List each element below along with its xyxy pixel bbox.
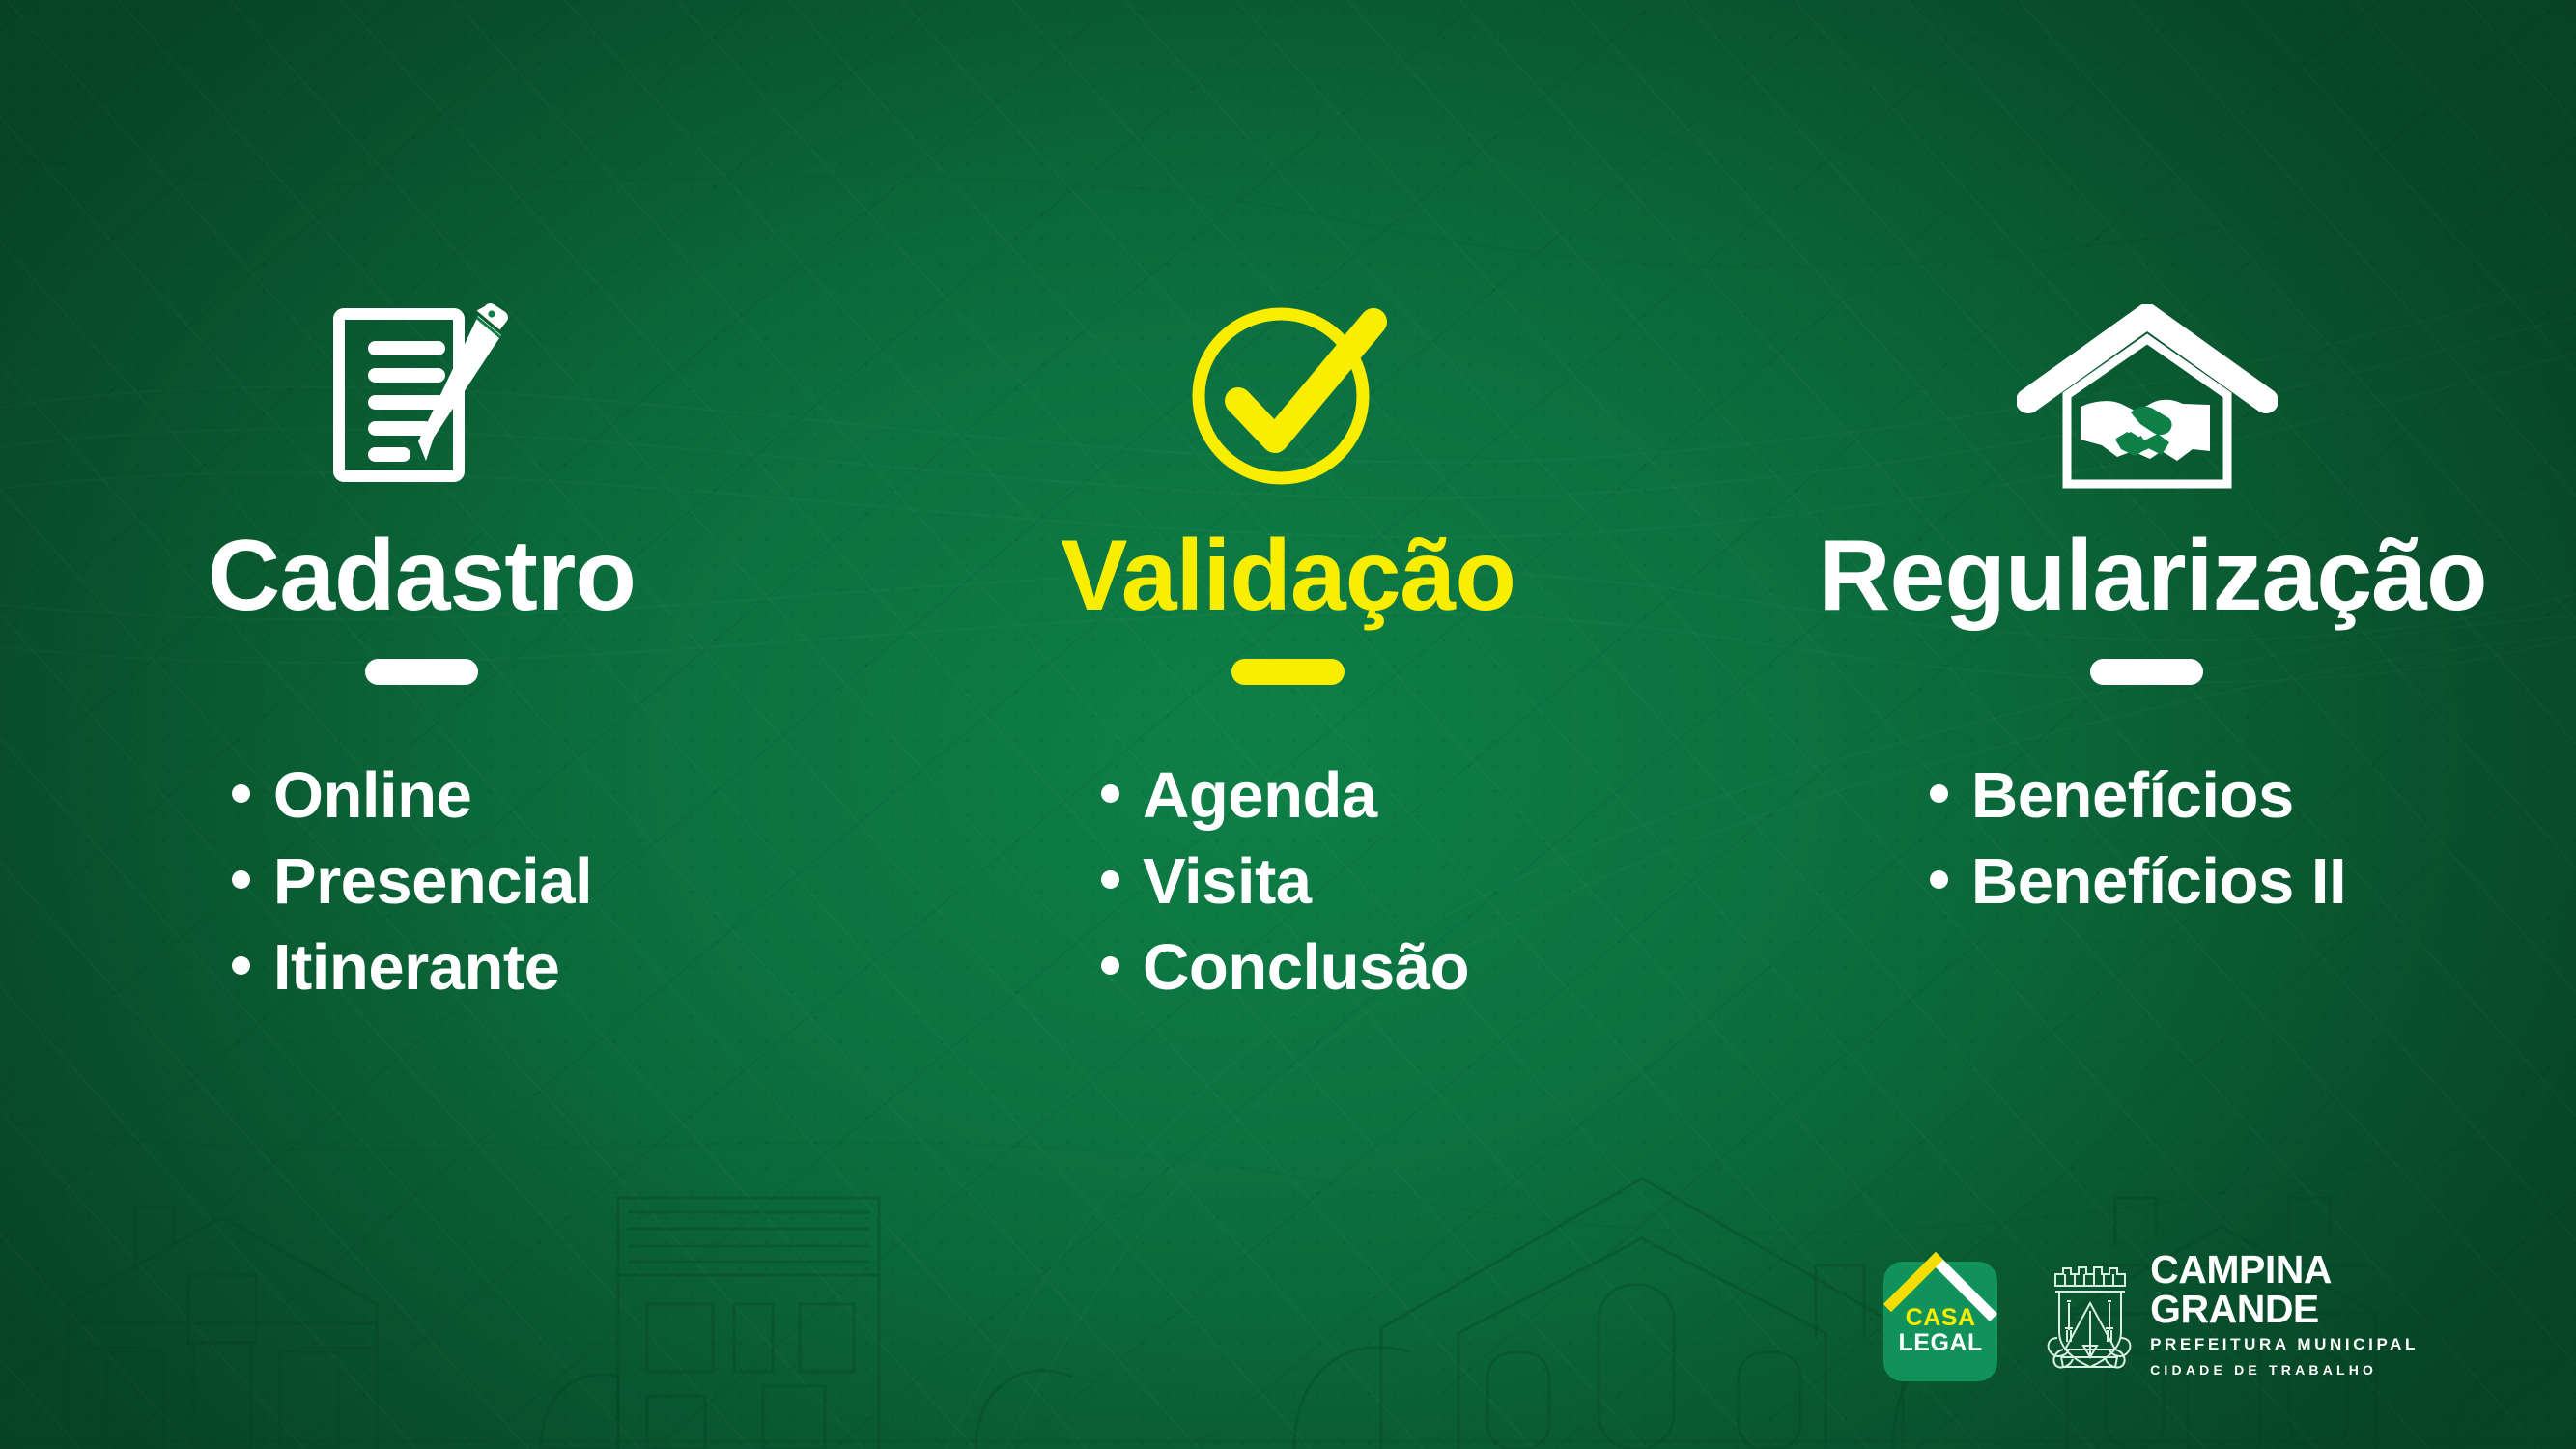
column-title-validacao: Validação: [1061, 526, 1515, 626]
list-item-label: Presencial: [273, 838, 592, 924]
list-item: Online: [232, 753, 592, 838]
column-rule-cadastro: [365, 659, 478, 685]
bullet-dot-icon: [232, 956, 250, 975]
campina-grande-logo: CAMPINA GRANDE PREFEITURA MUNICIPAL CIDA…: [2044, 1250, 2419, 1377]
list-item: Visita: [1101, 838, 1469, 924]
list-item: Agenda: [1101, 753, 1469, 838]
bullet-dot-icon: [1101, 870, 1119, 889]
bullet-dot-icon: [1930, 870, 1948, 889]
list-item: Presencial: [232, 838, 592, 924]
campina-grande-line-3: PREFEITURA MUNICIPAL: [2150, 1335, 2419, 1354]
footer-logos: CASA LEGAL: [1883, 1246, 2419, 1381]
handshake-glyph: [2081, 400, 2210, 461]
cadastro-bullet-list: Online Presencial Itinerante: [232, 753, 592, 1010]
column-title-cadastro: Cadastro: [208, 526, 636, 626]
house-handshake-icon: [2017, 304, 2278, 493]
bullet-dot-icon: [232, 784, 250, 803]
casa-legal-wordmark: CASA LEGAL: [1883, 1306, 1997, 1355]
campina-grande-wordmark: CAMPINA GRANDE PREFEITURA MUNICIPAL CIDA…: [2150, 1250, 2419, 1377]
regularizacao-bullet-list: Benefícios Benefícios II: [1930, 753, 2346, 924]
bullet-dot-icon: [1930, 784, 1948, 803]
casa-legal-line-1: CASA: [1883, 1306, 1997, 1331]
slide-canvas: Cadastro Online Presencial Itinerante: [0, 0, 2576, 1449]
process-columns: Cadastro Online Presencial Itinerante: [0, 232, 2576, 1101]
casa-legal-logo: CASA LEGAL: [1883, 1246, 1997, 1381]
list-item-label: Visita: [1143, 838, 1312, 924]
list-item-label: Benefícios II: [1971, 838, 2346, 924]
campina-grande-coat-of-arms: [2044, 1257, 2135, 1371]
campina-grande-line-2: GRANDE: [2150, 1290, 2419, 1328]
list-item: Itinerante: [232, 924, 592, 1010]
list-item: Conclusão: [1101, 924, 1469, 1010]
list-item-label: Conclusão: [1143, 924, 1469, 1010]
campina-grande-line-1: CAMPINA: [2150, 1250, 2419, 1289]
document-pencil-icon: [326, 295, 519, 493]
column-cadastro: Cadastro Online Presencial Itinerante: [0, 232, 859, 1101]
list-item: Benefícios II: [1930, 838, 2346, 924]
bullet-dot-icon: [1101, 784, 1119, 803]
cadastro-icon-wrap: [326, 232, 519, 493]
check-circle-icon: [1184, 295, 1392, 493]
bullet-dot-icon: [232, 870, 250, 889]
column-rule-regularizacao: [2090, 659, 2203, 685]
column-regularizacao: Regularização Benefícios Benefícios II: [1717, 232, 2576, 1101]
validacao-bullet-list: Agenda Visita Conclusão: [1101, 753, 1469, 1010]
validacao-icon-wrap: [1184, 232, 1392, 493]
column-title-regularizacao: Regularização: [1818, 526, 2486, 626]
bullet-dot-icon: [1101, 956, 1119, 975]
list-item-label: Benefícios: [1971, 753, 2294, 838]
casa-legal-line-2: LEGAL: [1883, 1331, 1997, 1356]
column-validacao: Validação Agenda Visita Conclusão: [859, 232, 1717, 1101]
regularizacao-icon-wrap: [2017, 232, 2278, 493]
column-rule-validacao: [1231, 659, 1345, 685]
list-item: Benefícios: [1930, 753, 2346, 838]
list-item-label: Agenda: [1143, 753, 1377, 838]
list-item-label: Online: [273, 753, 471, 838]
campina-grande-line-4: CIDADE DE TRABALHO: [2150, 1362, 2419, 1378]
list-item-label: Itinerante: [273, 924, 560, 1010]
